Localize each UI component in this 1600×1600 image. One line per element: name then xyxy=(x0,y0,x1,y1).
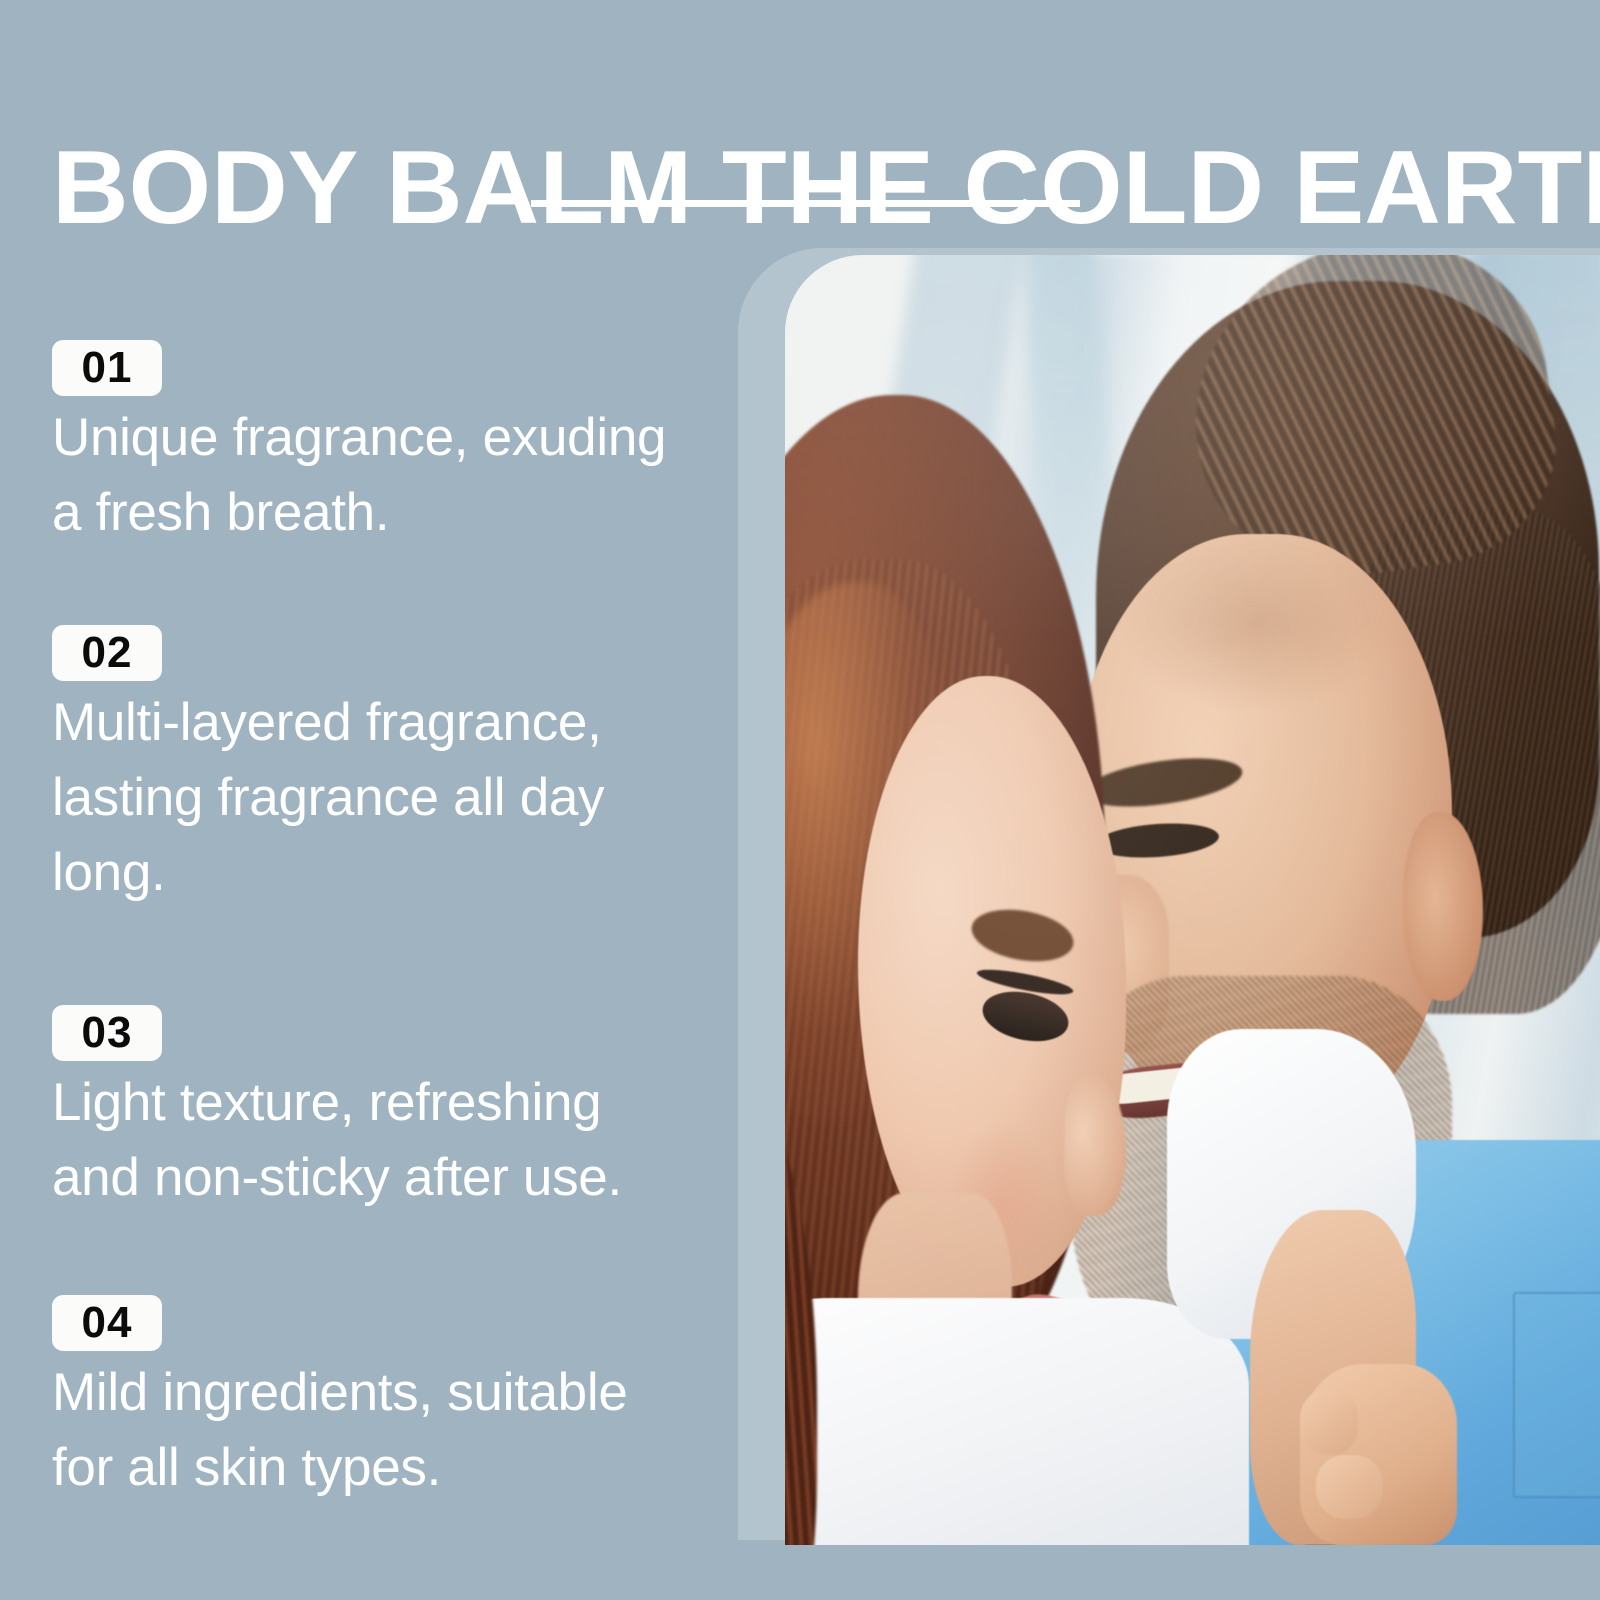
man-finger xyxy=(1316,1455,1382,1520)
feature-number-badge: 03 xyxy=(52,1005,162,1061)
feature-item-02: 02 Multi-layered fragrance, lasting frag… xyxy=(52,625,692,910)
photo-scene xyxy=(785,255,1600,1545)
feature-description: Multi-layered fragrance, lasting fragran… xyxy=(52,685,692,910)
couple-photo xyxy=(785,255,1600,1545)
feature-number-badge: 01 xyxy=(52,340,162,396)
page-title: BODY BALM THE COLD EARTH xyxy=(52,132,1592,244)
feature-number-badge: 02 xyxy=(52,625,162,681)
woman-figure xyxy=(785,371,1167,1545)
woman-white-top xyxy=(785,1298,1249,1545)
feature-item-04: 04 Mild ingredients, suitable for all sk… xyxy=(52,1295,692,1505)
feature-item-01: 01 Unique fragrance, exuding a fresh bre… xyxy=(52,340,692,550)
feature-item-03: 03 Light texture, refreshing and non-sti… xyxy=(52,1005,692,1215)
feature-description: Unique fragrance, exuding a fresh breath… xyxy=(52,400,692,550)
man-finger xyxy=(1300,1390,1358,1455)
man-shirt-pocket xyxy=(1513,1292,1600,1498)
feature-number-badge: 04 xyxy=(52,1295,162,1351)
product-feature-poster: BODY BALM THE COLD EARTH 01 Unique fragr… xyxy=(0,0,1600,1600)
man-ear xyxy=(1403,812,1483,1002)
title-divider xyxy=(531,200,1080,207)
feature-description: Light texture, refreshing and non-sticky… xyxy=(52,1065,692,1215)
feature-description: Mild ingredients, suitable for all skin … xyxy=(52,1355,692,1505)
